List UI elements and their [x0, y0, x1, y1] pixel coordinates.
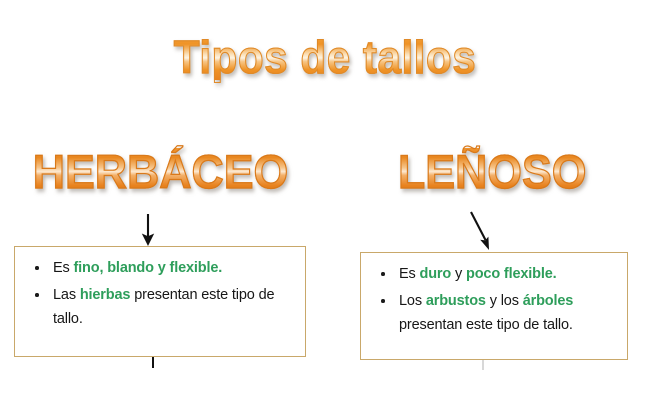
list-item: Es duro y poco flexible.	[367, 262, 619, 286]
heading-lenoso: LEÑOSO	[398, 148, 587, 195]
heading-herbaceo: HERBÁCEO	[33, 148, 289, 195]
list-item: Las hierbas presentan este tipo de tallo…	[21, 283, 297, 331]
body-text: Es	[53, 260, 74, 276]
body-text: Los	[399, 293, 426, 309]
list-item: Los arbustos y los árboles presentan est…	[367, 289, 619, 337]
keyword-text: poco flexible.	[466, 266, 557, 282]
info-box-lenoso: Es duro y poco flexible. Los arbustos y …	[360, 252, 628, 360]
bullet-list-herbaceo: Es fino, blando y flexible. Las hierbas …	[21, 256, 297, 331]
body-text: y los	[486, 293, 523, 309]
body-text: presentan este tipo de tallo.	[399, 317, 573, 333]
body-text: y	[451, 266, 466, 282]
keyword-text: duro	[420, 266, 452, 282]
keyword-text: hierbas	[80, 287, 131, 303]
page-title: Tipos de tallos	[26, 34, 624, 80]
down-arrow-icon-lenoso	[468, 211, 498, 258]
list-item: Es fino, blando y flexible.	[21, 256, 297, 280]
keyword-text: árboles	[523, 293, 574, 309]
keyword-text: arbustos	[426, 293, 486, 309]
down-arrow-icon-herbaceo-continues	[150, 355, 156, 373]
body-text: Las	[53, 287, 80, 303]
bullet-list-lenoso: Es duro y poco flexible. Los arbustos y …	[367, 262, 619, 337]
keyword-text: fino, blando y flexible.	[74, 260, 223, 276]
info-box-herbaceo: Es fino, blando y flexible. Las hierbas …	[14, 246, 306, 357]
body-text: Es	[399, 266, 420, 282]
